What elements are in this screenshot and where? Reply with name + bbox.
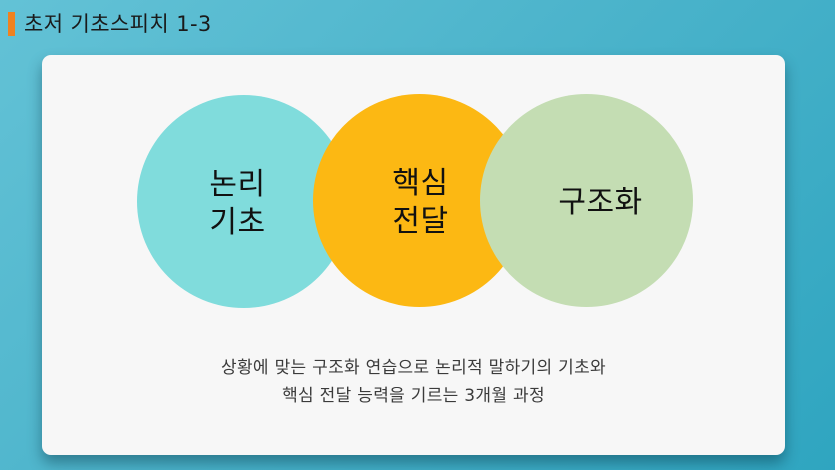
slide-canvas: 초저 기초스피치 1-3 논리 기초 핵심 전달 구조화 상황에 맞는 구조화 …: [0, 0, 835, 470]
caption-line-1: 상황에 맞는 구조화 연습으로 논리적 말하기의 기초와: [42, 355, 785, 383]
page-title: 초저 기초스피치 1-3: [24, 12, 212, 36]
venn-circle-label: 핵심 전달: [392, 165, 448, 239]
venn-circle-label: 구조화: [558, 184, 642, 221]
venn-circle-structuring[interactable]: 구조화: [480, 94, 693, 307]
content-card: 논리 기초 핵심 전달 구조화 상황에 맞는 구조화 연습으로 논리적 말하기의…: [42, 55, 785, 455]
caption-line-2: 핵심 전달 능력을 기르는 3개월 과정: [42, 383, 785, 411]
slide-title-row: 초저 기초스피치 1-3: [0, 0, 835, 48]
venn-circle-label: 논리 기초: [209, 166, 265, 240]
slide-caption: 상황에 맞는 구조화 연습으로 논리적 말하기의 기초와 핵심 전달 능력을 기…: [42, 355, 785, 410]
venn-diagram: 논리 기초 핵심 전달 구조화: [42, 55, 785, 330]
title-accent-bar-icon: [8, 12, 15, 36]
